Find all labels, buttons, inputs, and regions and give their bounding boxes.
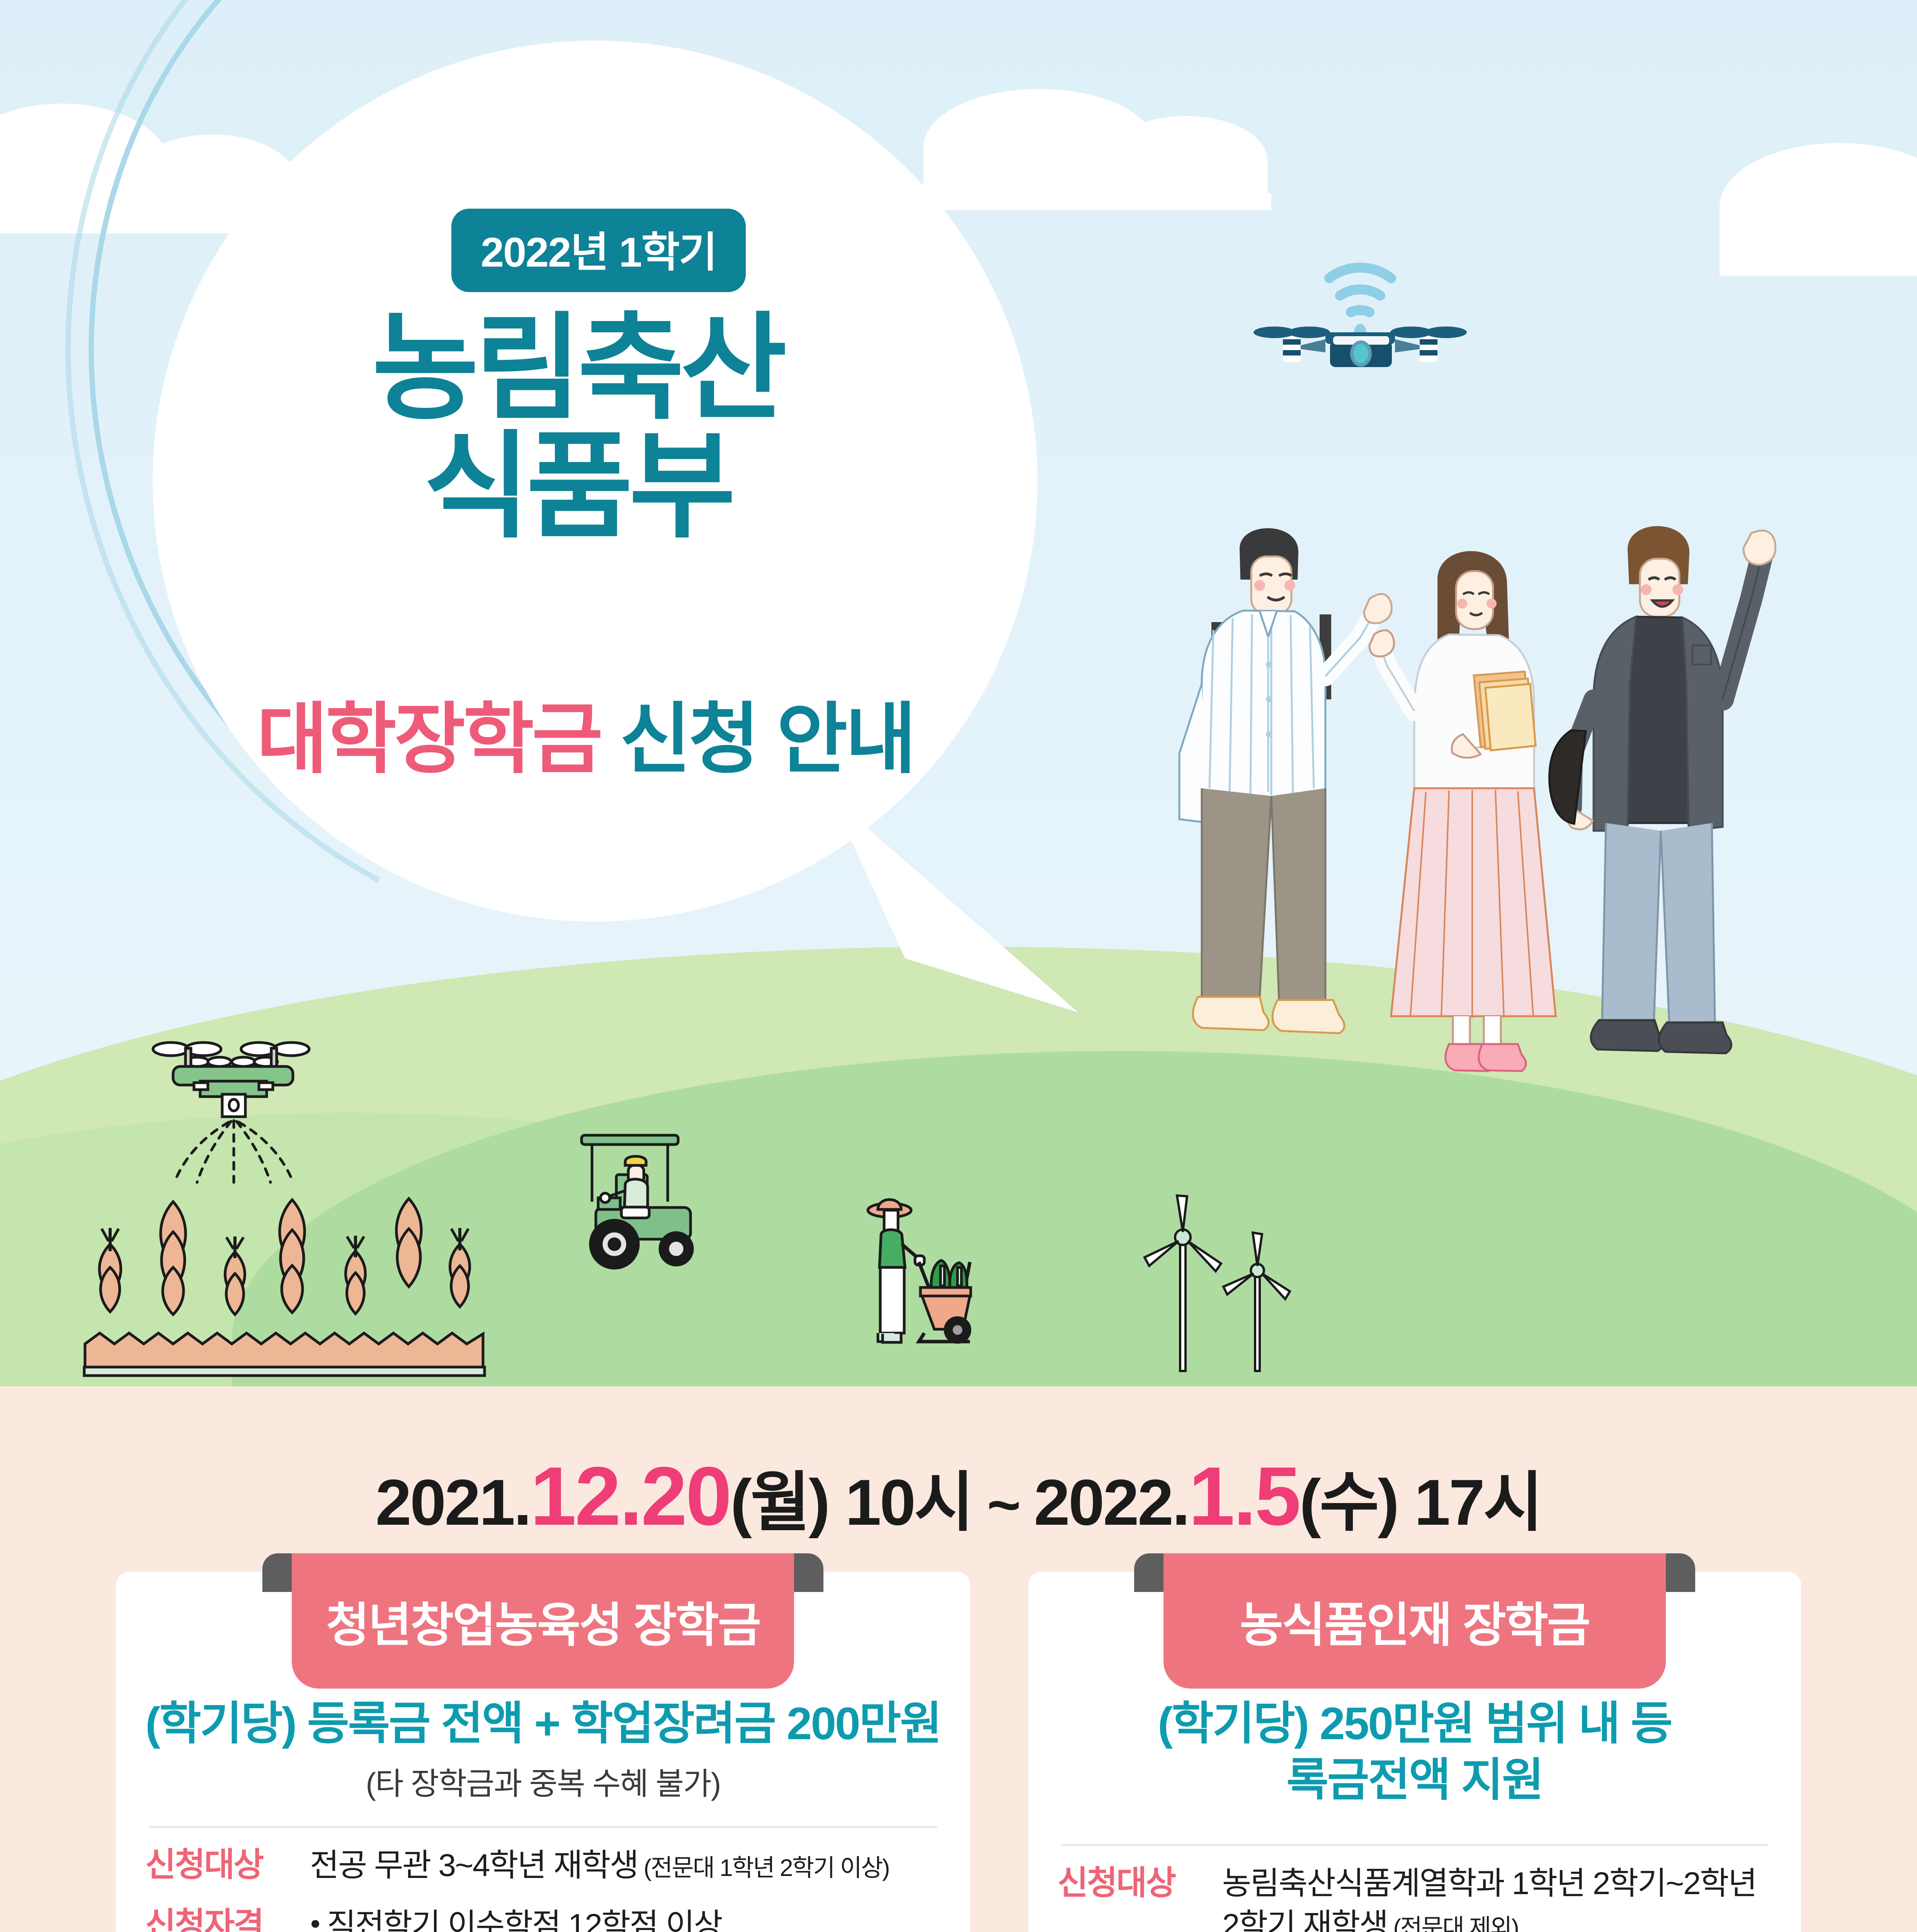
card-detail-row: 신청자격 직전학기 이수학점 12학점 이상 성적 70점 이상인 만 40세 …: [145, 1905, 941, 1932]
row-label: 신청대상: [145, 1845, 292, 1885]
period-separator: ~: [973, 1472, 1034, 1537]
card-divider: [149, 1826, 937, 1828]
student-male-jacket: [1549, 526, 1775, 1053]
row-subtext: (전문대 제외): [1388, 1915, 1518, 1932]
card-divider: [1061, 1844, 1768, 1846]
title-line-2: 식품부: [0, 427, 1155, 546]
semester-badge: 2022년 1학기: [451, 209, 746, 292]
farmer-wheelbarrow-icon: [854, 1186, 1016, 1368]
wheat-field-icon: [81, 1186, 491, 1386]
row-subtext: (전문대 1학년 2학기 이상): [638, 1855, 889, 1881]
row-label: 신청자격: [145, 1905, 292, 1932]
card-amount: (학기당) 등록금 전액 + 학업장려금 200만원: [145, 1696, 941, 1752]
row-label: 신청대상: [1058, 1863, 1204, 1903]
scholarship-card: 농식품인재 장학금 (학기당) 250만원 범위 내 등록금전액 지원 신청대상…: [1028, 1572, 1801, 1932]
scholarship-cards: 청년창업농육성 장학금 (학기당) 등록금 전액 + 학업장려금 200만원 (…: [116, 1572, 1801, 1932]
card-ribbon-title: 농식품인재 장학금: [1163, 1553, 1666, 1689]
row-text: 전공 무관 3~4학년 재학생: [310, 1848, 638, 1883]
cloud-icon: [1720, 259, 1917, 276]
student-male-striped-shirt: [1179, 528, 1391, 1033]
row-value: 직전학기 이수학점 12학점 이상 성적 70점 이상인 만 40세 미만인 자: [310, 1905, 941, 1932]
student-female-books: [1369, 551, 1556, 1071]
period-start-day: (월) 10시: [730, 1466, 973, 1539]
period-end-date: 1.5: [1189, 1449, 1300, 1543]
drone-wifi-icon: [1229, 216, 1492, 371]
card-amount: (학기당) 250만원 범위 내 등록금전액 지원: [1058, 1696, 1772, 1809]
subtitle-rest: 신청 안내: [600, 696, 914, 782]
scholarship-card: 청년창업농육성 장학금 (학기당) 등록금 전액 + 학업장려금 200만원 (…: [116, 1572, 970, 1932]
period-start-date: 12.20: [530, 1449, 730, 1543]
period-end-day: (수) 17시: [1300, 1466, 1542, 1539]
title-line-1: 농림축산: [0, 309, 1155, 427]
subtitle-highlight: 대학장학금: [257, 696, 600, 782]
card-detail-row: 신청대상 전공 무관 3~4학년 재학생 (전문대 1학년 2학기 이상): [145, 1845, 941, 1886]
row-value: 전공 무관 3~4학년 재학생 (전문대 1학년 2학기 이상): [310, 1845, 941, 1886]
hero-illustration-section: 2022년 1학기 농림축산 식품부 대학장학금 신청 안내: [0, 0, 1917, 1386]
page-subtitle: 대학장학금 신청 안내: [0, 676, 1171, 788]
row-value: 농림축산식품계열학과 1학년 2학기~2학년 2학기 재학생 (전문대 제외): [1222, 1863, 1772, 1932]
page-title: 농림축산 식품부: [0, 309, 1155, 546]
cloud-icon: [1105, 116, 1267, 205]
wind-turbine-icon: [1140, 1194, 1306, 1376]
tractor-icon: [549, 1128, 715, 1291]
students-illustration: [1144, 483, 1808, 1198]
card-ribbon-title: 청년창업농육성 장학금: [292, 1553, 794, 1689]
period-end-year: 2022.: [1034, 1466, 1189, 1539]
period-start-year: 2021.: [376, 1466, 530, 1539]
card-note: (타 장학금과 중복 수혜 불가): [145, 1759, 941, 1804]
card-detail-row: 신청대상 농림축산식품계열학과 1학년 2학기~2학년 2학기 재학생 (전문대…: [1058, 1863, 1772, 1932]
information-section: 2021.12.20(월) 10시 ~ 2022.1.5(수) 17시 청년창업…: [0, 1386, 1917, 1932]
bullet-item: 직전학기 이수학점 12학점 이상: [310, 1905, 941, 1932]
application-period: 2021.12.20(월) 10시 ~ 2022.1.5(수) 17시: [0, 1448, 1917, 1544]
